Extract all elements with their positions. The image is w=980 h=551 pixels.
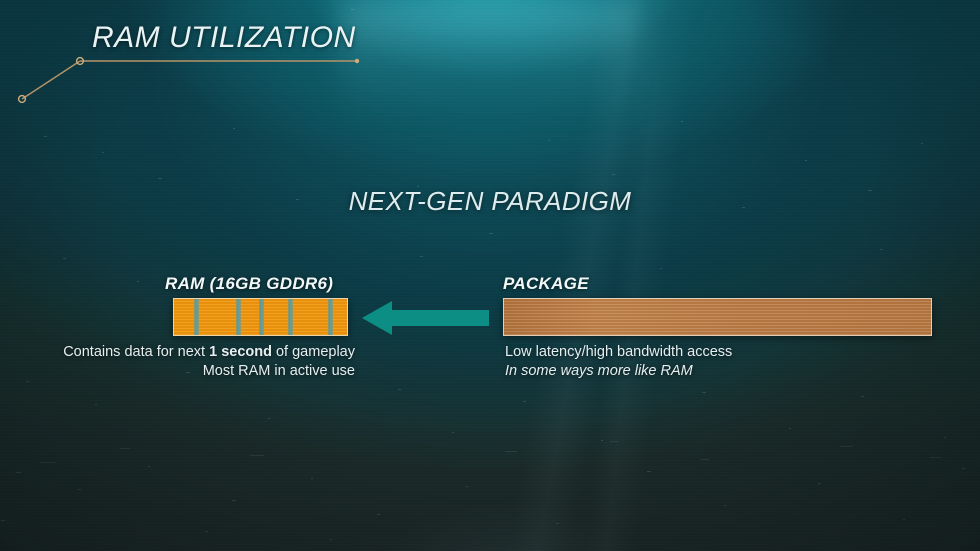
package-caption: Low latency/high bandwidth access In som… bbox=[505, 343, 732, 381]
ram-caption: Contains data for next 1 second of gamep… bbox=[0, 343, 355, 381]
slide-subtitle: NEXT-GEN PARADIGM bbox=[0, 186, 980, 217]
ram-caption-prefix: Contains data for next bbox=[63, 344, 209, 360]
ram-bar-segment-divider bbox=[328, 299, 333, 335]
ram-caption-line-1: Contains data for next 1 second of gamep… bbox=[0, 343, 355, 362]
package-capacity-bar bbox=[503, 298, 932, 336]
ram-bar-segment-divider bbox=[259, 299, 264, 335]
package-caption-line-2: In some ways more like RAM bbox=[505, 362, 732, 381]
presentation-slide: RAM UTILIZATION NEXT-GEN PARADIGM RAM (1… bbox=[0, 0, 980, 551]
ram-bar-segment-divider bbox=[194, 299, 199, 335]
package-column-label: PACKAGE bbox=[503, 274, 589, 294]
ram-capacity-bar bbox=[173, 298, 348, 336]
title-decorative-rule bbox=[0, 48, 380, 110]
transfer-arrow-left-icon bbox=[358, 296, 493, 340]
ram-caption-line-2: Most RAM in active use bbox=[0, 362, 355, 381]
ram-bar-segment-divider bbox=[236, 299, 241, 335]
ram-bar-segment-divider bbox=[288, 299, 293, 335]
ram-column-label: RAM (16GB GDDR6) bbox=[165, 274, 333, 294]
ram-caption-emphasis: 1 second bbox=[209, 344, 272, 360]
ram-caption-suffix: of gameplay bbox=[272, 344, 355, 360]
package-caption-line-1: Low latency/high bandwidth access bbox=[505, 343, 732, 362]
